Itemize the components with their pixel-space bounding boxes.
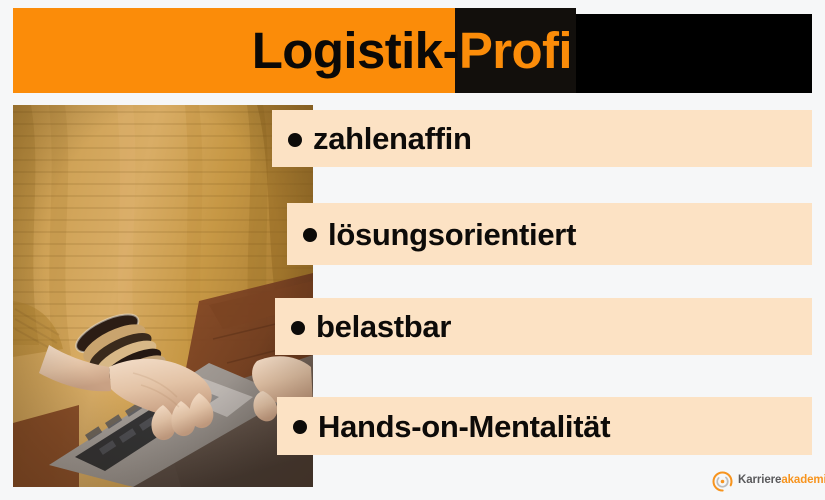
hero-photo-illustration: [13, 105, 313, 487]
header-black-block-outer: [576, 14, 812, 93]
bullet-item-4: Hands-on-Mentalität: [277, 397, 812, 455]
bullet-item-3: belastbar: [275, 298, 812, 355]
page-title: Logistik-Profi: [13, 8, 576, 93]
page-title-part-dark: Logistik-: [252, 25, 459, 76]
bullet-dot-icon: [293, 420, 307, 434]
bullet-dot-icon: [288, 133, 302, 147]
bullet-item-2-label: lösungsorientiert: [328, 219, 576, 250]
bullet-item-1: zahlenaffin: [272, 110, 812, 167]
slide-canvas: Logistik-Profi: [0, 0, 825, 500]
page-title-part-accent: Profi: [459, 25, 572, 76]
brand-name-part-1: Karriere: [738, 474, 781, 486]
hero-photo: [13, 105, 313, 487]
bullet-dot-icon: [303, 228, 317, 242]
bullet-dot-icon: [291, 321, 305, 335]
bullet-item-3-label: belastbar: [316, 311, 451, 342]
bullet-item-1-label: zahlenaffin: [313, 123, 472, 154]
brand-logo-wordmark: Karriereakademie.de: [738, 475, 825, 487]
bullet-item-2: lösungsorientiert: [287, 203, 812, 265]
brand-name-part-2: akademie: [781, 474, 825, 486]
bullet-item-4-label: Hands-on-Mentalität: [318, 411, 610, 442]
target-spiral-icon: [712, 471, 733, 492]
brand-logo[interactable]: Karriereakademie.de: [712, 469, 825, 493]
